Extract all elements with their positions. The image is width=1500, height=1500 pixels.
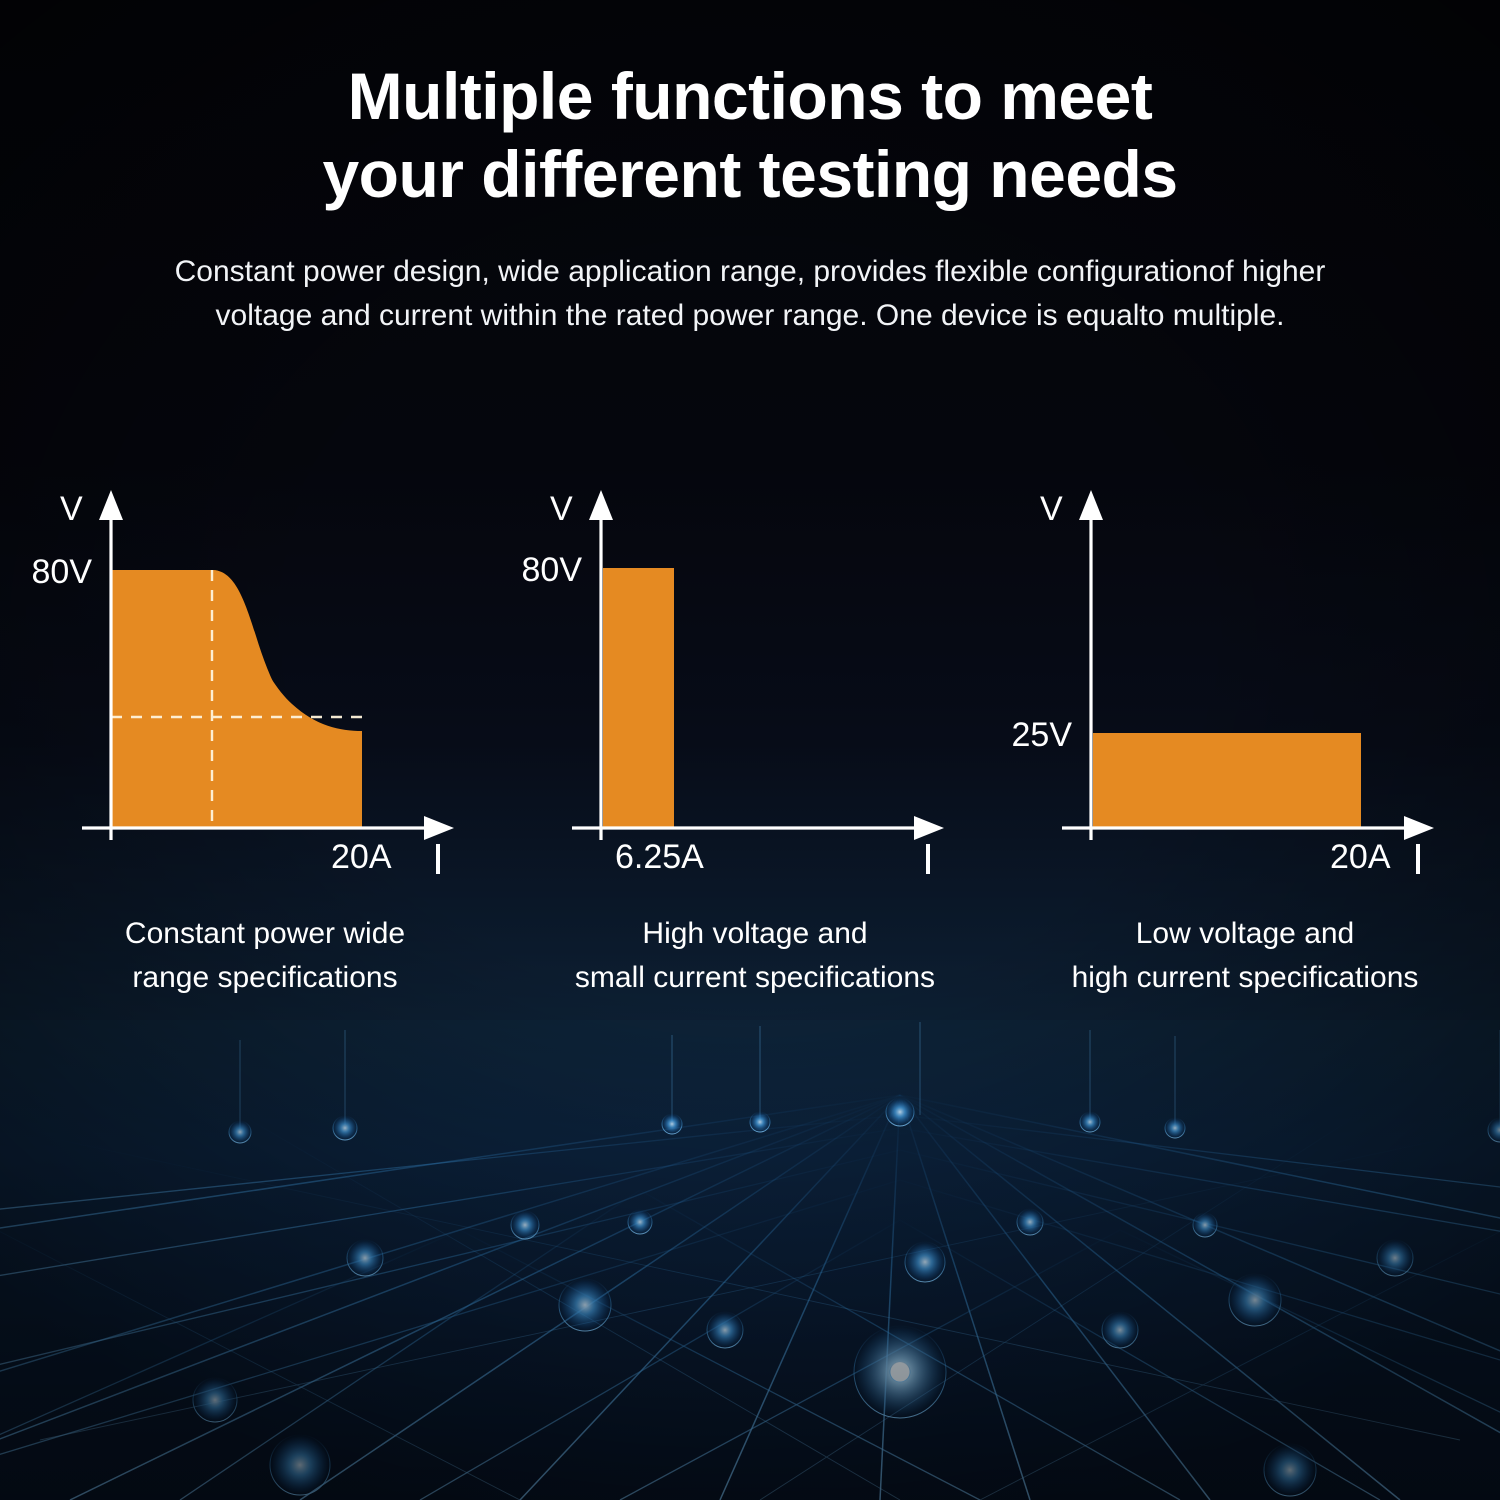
chart-low-voltage-high-current: V 25V 20A (1000, 470, 1490, 890)
chart-constant-power: V 80V 20A (20, 470, 510, 890)
chart1-y-axis-label: V (60, 492, 83, 526)
page-subtitle: Constant power design, wide application … (170, 250, 1330, 338)
chart-row: V 80V 20A V 80V 6.25A (0, 470, 1500, 890)
page-subtitle-line-3: One device is equalto multiple. (876, 299, 1285, 332)
caption-2-line-2: small current specifications (500, 956, 1010, 1000)
chart-captions: Constant power wide range specifications… (0, 912, 1500, 1012)
caption-high-voltage: High voltage and small current specifica… (500, 912, 1010, 1000)
chart3-y-axis-arrow (1079, 490, 1103, 520)
caption-constant-power: Constant power wide range specifications (20, 912, 510, 1000)
page-title-line-2: your different testing needs (0, 136, 1500, 214)
page-content: Multiple functions to meet your differen… (0, 0, 1500, 1500)
chart2-x-tick-label: 6.25A (615, 840, 704, 874)
chart-constant-power-graphic (20, 470, 510, 890)
caption-3-line-2: high current specifications (1000, 956, 1490, 1000)
chart1-x-axis-arrow (424, 816, 454, 840)
chart1-y-tick-label: 80V (0, 555, 92, 589)
chart3-y-tick-label: 25V (922, 718, 1072, 752)
chart-high-voltage-small-current: V 80V 6.25A (510, 470, 1000, 890)
page-title-line-1: Multiple functions to meet (348, 59, 1153, 133)
caption-1-line-2: range specifications (20, 956, 510, 1000)
chart2-y-axis-label: V (550, 492, 573, 526)
chart3-x-axis-arrow (1404, 816, 1434, 840)
chart1-y-axis-arrow (99, 490, 123, 520)
chart1-x-tick-label: 20A (331, 840, 392, 874)
chart2-bar (603, 568, 674, 828)
chart3-y-axis-label: V (1040, 492, 1063, 526)
caption-3-line-1: Low voltage and (1136, 917, 1355, 950)
caption-1-line-1: Constant power wide (125, 917, 405, 950)
page-title: Multiple functions to meet your differen… (0, 58, 1500, 214)
chart2-y-tick-label: 80V (432, 553, 582, 587)
chart-high-voltage-graphic (510, 470, 1000, 890)
chart-low-voltage-graphic (1000, 470, 1490, 890)
chart2-y-axis-arrow (589, 490, 613, 520)
caption-low-voltage: Low voltage and high current specificati… (1000, 912, 1490, 1000)
chart3-x-tick-label: 20A (1330, 840, 1391, 874)
chart3-bar (1093, 733, 1361, 828)
caption-2-line-1: High voltage and (642, 917, 867, 950)
chart2-x-axis-arrow (914, 816, 944, 840)
page-subtitle-line-1: Constant power design, wide application … (175, 255, 1029, 288)
chart1-area-curve (111, 570, 362, 828)
